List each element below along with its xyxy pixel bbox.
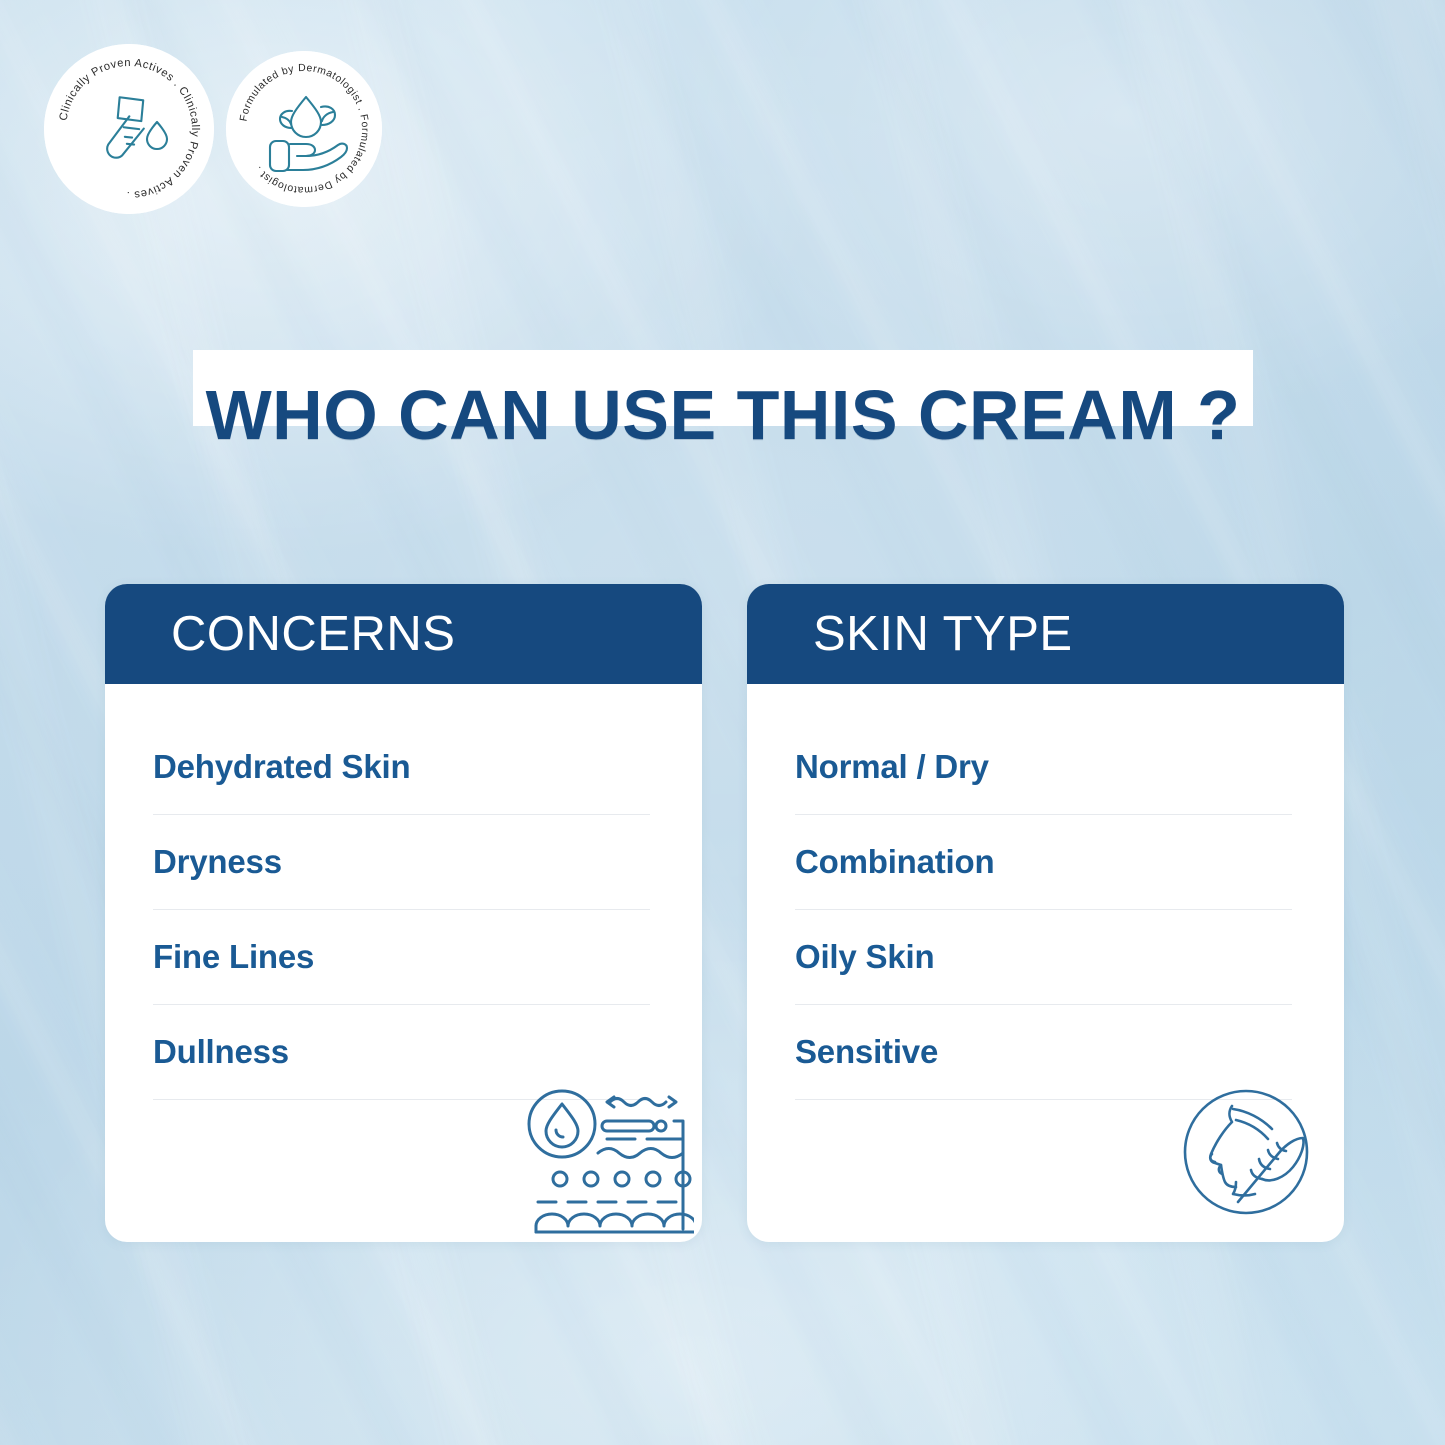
list-item: Dehydrated Skin — [153, 720, 650, 815]
list-item: Dullness — [153, 1005, 650, 1100]
page-title: WHO CAN USE THIS CREAM ? — [193, 350, 1253, 480]
badge-formulated-by-dermatologist: Formulated by Dermatologist . Formulated… — [226, 51, 382, 207]
list-item: Dryness — [153, 815, 650, 910]
info-card-group: CONCERNS Dehydrated Skin Dryness Fine Li… — [105, 584, 1345, 1242]
list-item: Sensitive — [795, 1005, 1292, 1100]
list-item-label: Sensitive — [795, 1033, 938, 1071]
card-body-concerns: Dehydrated Skin Dryness Fine Lines Dulln… — [105, 684, 702, 1242]
list-item: Normal / Dry — [795, 720, 1292, 815]
list-item-label: Dullness — [153, 1033, 289, 1071]
list-item: Oily Skin — [795, 910, 1292, 1005]
card-header-skin-type: SKIN TYPE — [747, 584, 1344, 684]
list-item-label: Fine Lines — [153, 938, 314, 976]
badge-clinically-proven-actives: Clinically Proven Actives . Clinically P… — [44, 44, 214, 214]
list-item-label: Normal / Dry — [795, 748, 989, 786]
list-item-label: Oily Skin — [795, 938, 934, 976]
card-body-skin-type: Normal / Dry Combination Oily Skin Sensi… — [747, 684, 1344, 1242]
list-item-label: Dehydrated Skin — [153, 748, 410, 786]
list-item: Fine Lines — [153, 910, 650, 1005]
card-skin-type: SKIN TYPE Normal / Dry Combination Oily … — [747, 584, 1344, 1242]
card-title: SKIN TYPE — [813, 606, 1073, 662]
list-item-label: Combination — [795, 843, 994, 881]
card-title: CONCERNS — [171, 606, 455, 662]
trust-badge-group: Clinically Proven Actives . Clinically P… — [44, 44, 382, 214]
skin-hydration-layers-icon — [514, 1080, 694, 1240]
card-concerns: CONCERNS Dehydrated Skin Dryness Fine Li… — [105, 584, 702, 1242]
list-item: Combination — [795, 815, 1292, 910]
list-item-label: Dryness — [153, 843, 282, 881]
poster-canvas: Clinically Proven Actives . Clinically P… — [0, 0, 1445, 1445]
card-header-concerns: CONCERNS — [105, 584, 702, 684]
